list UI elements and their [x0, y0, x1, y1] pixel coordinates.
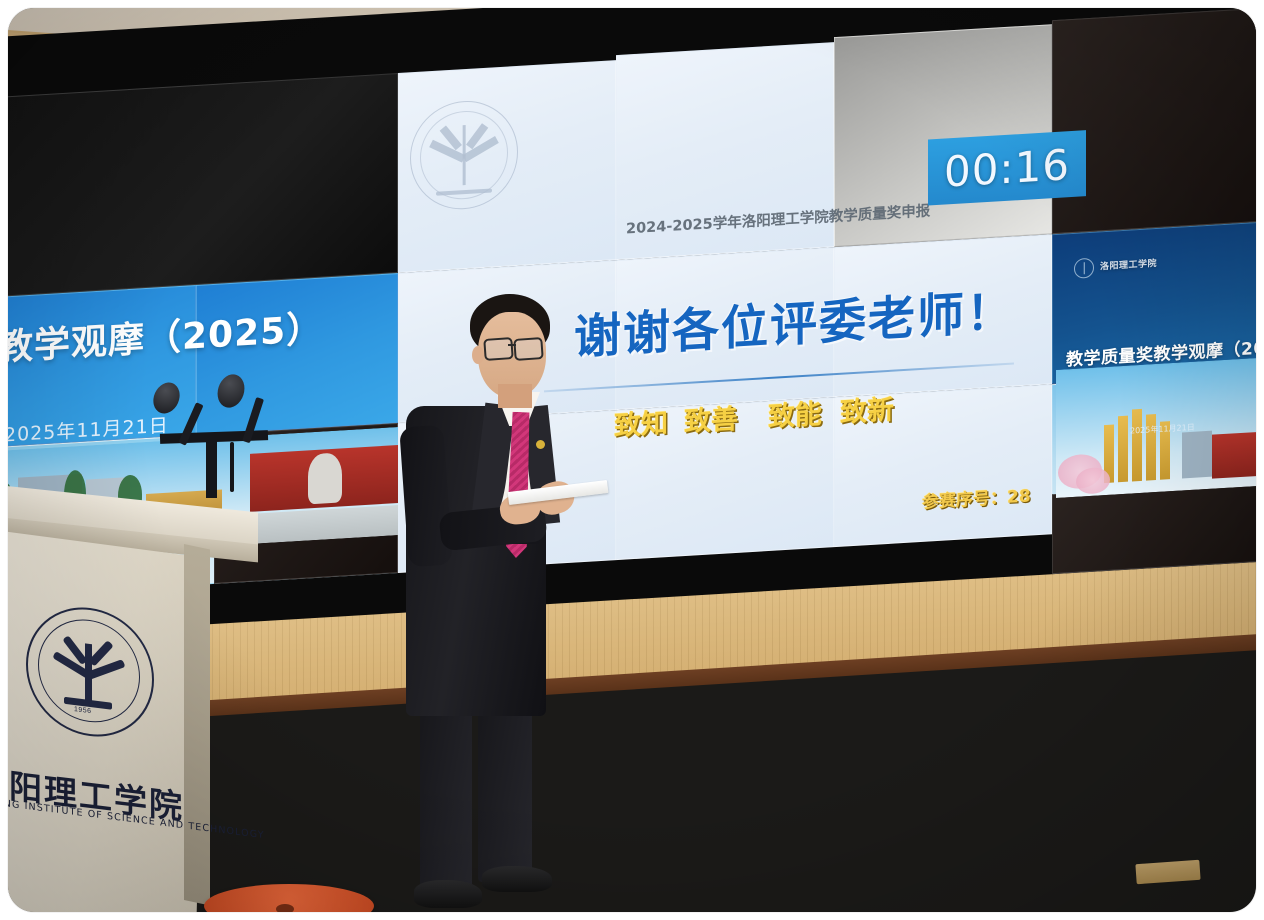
countdown-timer: 00:16 [928, 130, 1086, 205]
microphone-stand-post [206, 438, 217, 498]
video-wall-tile [8, 73, 398, 298]
speaker-trouser-left [420, 698, 472, 888]
speaker-glasses-bridge [508, 344, 516, 346]
speaker-trouser-right [478, 698, 532, 882]
motto-word-1: 致善 [684, 397, 738, 439]
speaker-lapel-pin-icon [536, 440, 545, 449]
podium-side-panel [184, 544, 210, 906]
speaker-shoe-left [414, 880, 482, 908]
floor-cable-reel-hole [276, 904, 294, 912]
speaker-shoe-right [482, 866, 552, 892]
speaker-glasses-right-lens [513, 337, 543, 361]
motto-word-2: 致能 [768, 392, 822, 434]
speaker-ear [472, 346, 484, 364]
microphone-cable [230, 442, 234, 492]
podium-crest-icon: 1956 [26, 600, 154, 744]
video-wall-tile-dark [1052, 8, 1256, 234]
speaker-neck [498, 384, 532, 408]
speaker-glasses-left-lens [483, 337, 513, 361]
motto-word-0: 致知 [614, 401, 668, 443]
motto-word-3: 致新 [840, 388, 894, 430]
countdown-timer-value: 00:16 [944, 140, 1070, 196]
conference-photo: 奖教学观摩（2025） 2025年11月21日 2024-2025学年洛阳理工学… [8, 8, 1256, 912]
